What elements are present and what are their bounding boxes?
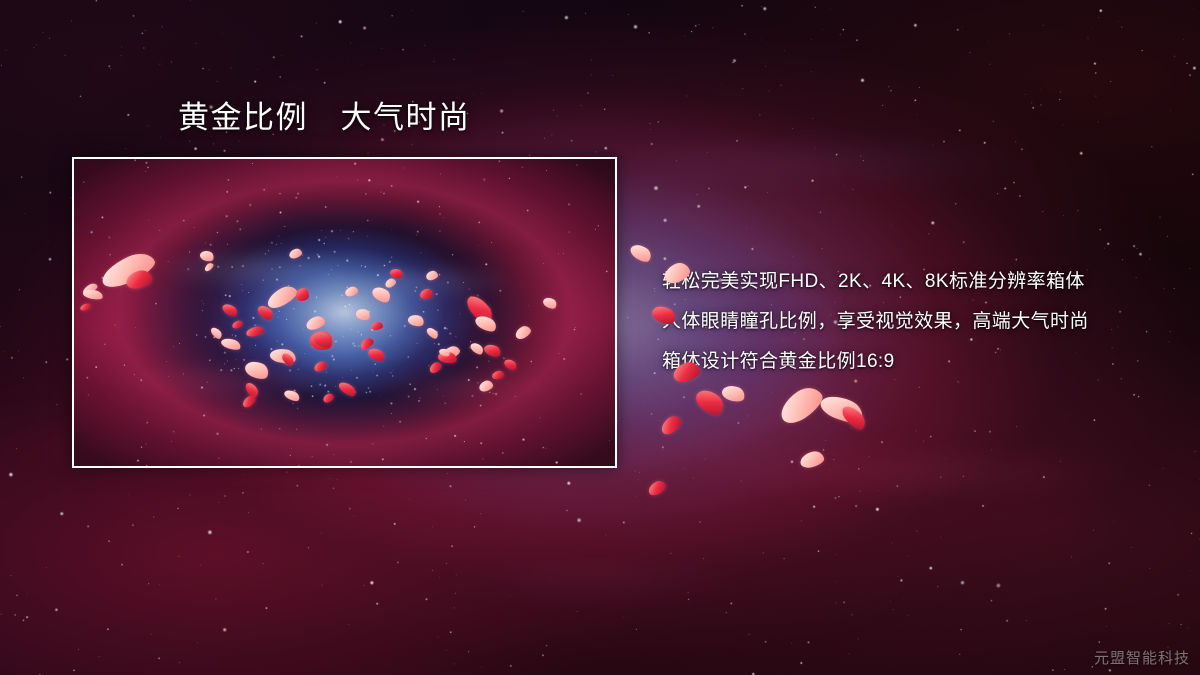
framed-image-stars [74, 159, 615, 466]
watermark-label: 元盟智能科技 [1094, 647, 1190, 668]
body-text-block: 轻松完美实现FHD、2K、4K、8K标准分辨率箱体 人体眼睛瞳孔比例，享受视觉效… [662, 262, 1182, 382]
rose-petal [296, 288, 309, 301]
body-text-line-3: 箱体设计符合黄金比例16:9 [662, 342, 1182, 382]
body-text-line-2: 人体眼睛瞳孔比例，享受视觉效果，高端大气时尚 [662, 302, 1182, 342]
image-frame [72, 157, 617, 468]
image-frame-content [74, 159, 615, 466]
slide-canvas: 黄金比例 大气时尚 轻松完美实现FHD、2K、4K、8K标准分辨率箱体 人体眼睛… [0, 0, 1200, 675]
body-text-line-1: 轻松完美实现FHD、2K、4K、8K标准分辨率箱体 [662, 262, 1182, 302]
page-title: 黄金比例 大气时尚 [178, 100, 471, 137]
